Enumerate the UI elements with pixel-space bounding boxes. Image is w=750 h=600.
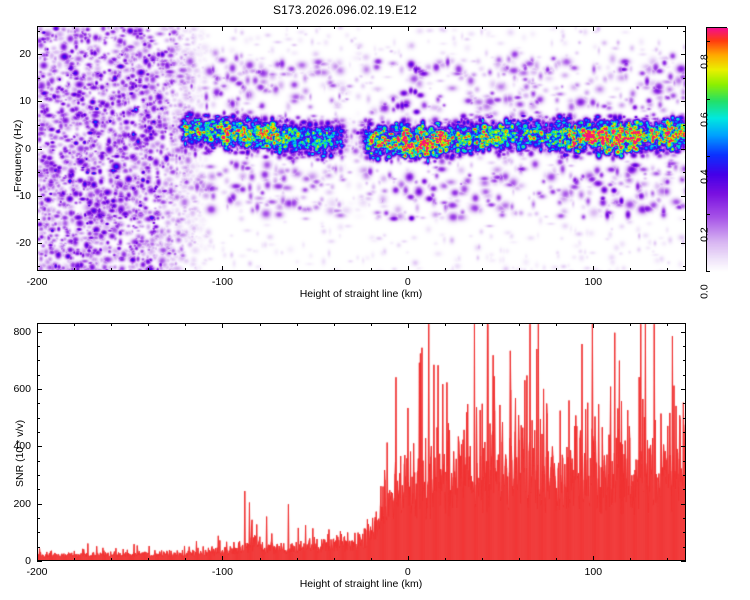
y-tick-major-right [681, 54, 686, 55]
figure-root: S173.2026.096.02.19.E12 -200-10001002010… [0, 0, 750, 600]
colorbar-tick [706, 99, 710, 100]
y-tick-minor-right [683, 547, 686, 548]
x-tick-label: -200 [26, 566, 47, 578]
y-tick-minor-right [683, 172, 686, 173]
x-tick-major [408, 266, 409, 271]
x-tick-minor [482, 558, 483, 561]
y-tick-minor-right [683, 403, 686, 404]
x-tick-minor-top [556, 26, 557, 29]
y-tick-major-right [681, 561, 686, 562]
spectrogram-yaxis-title: Frequency (Hz) [12, 120, 24, 192]
x-tick-minor-top [371, 323, 372, 326]
y-tick-label: 0 [25, 555, 31, 567]
x-tick-minor [556, 268, 557, 271]
x-tick-minor-top [371, 26, 372, 29]
y-tick-minor [37, 346, 40, 347]
x-tick-minor-top [334, 323, 335, 326]
y-tick-minor [37, 403, 40, 404]
y-tick-major-right [681, 196, 686, 197]
x-tick-major [222, 266, 223, 271]
x-tick-minor-top [482, 323, 483, 326]
x-tick-minor-top [111, 26, 112, 29]
x-tick-major-top [408, 26, 409, 31]
page-title: S173.2026.096.02.19.E12 [0, 3, 690, 17]
y-tick-minor-right [683, 78, 686, 79]
y-tick-minor-right [683, 432, 686, 433]
y-tick-minor-right [683, 475, 686, 476]
colorbar-tick-label: 0.4 [699, 169, 711, 184]
x-tick-minor [667, 268, 668, 271]
colorbar-tick-label: 0.8 [699, 55, 711, 70]
y-tick-label: 800 [13, 326, 31, 338]
y-tick-major [37, 149, 42, 150]
x-tick-label: 0 [405, 276, 411, 288]
y-tick-major [37, 504, 42, 505]
x-tick-label: -100 [212, 276, 233, 288]
x-tick-minor [148, 268, 149, 271]
x-tick-label: 0 [405, 566, 411, 578]
x-tick-minor-top [630, 26, 631, 29]
x-tick-minor-top [630, 323, 631, 326]
x-tick-minor-top [556, 323, 557, 326]
x-tick-major [593, 556, 594, 561]
x-tick-minor [445, 558, 446, 561]
x-tick-label: -100 [212, 566, 233, 578]
x-tick-major-top [222, 26, 223, 31]
x-tick-minor-top [260, 323, 261, 326]
x-tick-minor [260, 558, 261, 561]
y-tick-minor-right [683, 360, 686, 361]
y-tick-minor-right [683, 346, 686, 347]
y-tick-minor [37, 172, 40, 173]
y-tick-minor [37, 266, 40, 267]
y-tick-minor-right [683, 31, 686, 32]
x-tick-major-top [593, 323, 594, 328]
x-tick-minor [111, 268, 112, 271]
x-tick-minor-top [334, 26, 335, 29]
y-tick-major [37, 389, 42, 390]
spectrogram-image [38, 27, 686, 271]
x-tick-minor [556, 558, 557, 561]
y-tick-major [37, 561, 42, 562]
x-tick-label: 100 [585, 566, 603, 578]
spectrogram-plot-area [37, 26, 686, 271]
y-tick-minor [37, 432, 40, 433]
x-tick-minor [74, 268, 75, 271]
y-tick-major-right [681, 243, 686, 244]
colorbar-tick [706, 214, 710, 215]
colorbar-tick-label: 0.0 [699, 284, 711, 299]
x-tick-minor-top [148, 323, 149, 326]
snr-yaxis-title: SNR (10 * v/v) [14, 420, 26, 487]
colorbar-tick [706, 271, 710, 272]
x-tick-minor [630, 268, 631, 271]
y-tick-minor [37, 489, 40, 490]
x-tick-minor-top [148, 26, 149, 29]
y-tick-minor [37, 547, 40, 548]
x-tick-minor-top [667, 26, 668, 29]
y-tick-label: 0 [25, 143, 31, 155]
x-tick-minor-top [445, 26, 446, 29]
snr-trace [38, 324, 686, 561]
x-tick-minor-top [297, 323, 298, 326]
x-tick-minor [185, 558, 186, 561]
x-tick-minor [371, 268, 372, 271]
y-tick-minor [37, 31, 40, 32]
y-tick-minor-right [683, 418, 686, 419]
x-tick-minor-top [667, 323, 668, 326]
y-tick-label: -20 [16, 237, 31, 249]
y-tick-minor [37, 219, 40, 220]
y-tick-minor [37, 78, 40, 79]
x-tick-minor-top [445, 323, 446, 326]
x-tick-label: -200 [26, 276, 47, 288]
y-tick-minor-right [683, 461, 686, 462]
colorbar-tick [706, 156, 710, 157]
y-tick-label: 600 [13, 383, 31, 395]
x-tick-minor [334, 268, 335, 271]
y-tick-major-right [681, 332, 686, 333]
colorbar-tick-label: 0.2 [699, 227, 711, 242]
x-tick-major-top [593, 26, 594, 31]
x-tick-minor [482, 268, 483, 271]
y-tick-minor-right [683, 532, 686, 533]
y-tick-minor [37, 360, 40, 361]
y-tick-major [37, 332, 42, 333]
x-tick-major [222, 556, 223, 561]
colorbar-tick [706, 41, 710, 42]
x-tick-minor [630, 558, 631, 561]
y-tick-major-right [681, 101, 686, 102]
spectrogram-xaxis-title: Height of straight line (km) [300, 288, 423, 300]
x-tick-minor [519, 558, 520, 561]
colorbar-tick-label: 0.6 [699, 112, 711, 127]
y-tick-minor [37, 475, 40, 476]
y-tick-major-right [681, 149, 686, 150]
x-tick-minor-top [519, 26, 520, 29]
y-tick-label: 200 [13, 498, 31, 510]
x-tick-minor-top [260, 26, 261, 29]
x-tick-minor [297, 268, 298, 271]
y-tick-major [37, 101, 42, 102]
x-tick-minor [445, 268, 446, 271]
y-tick-minor [37, 532, 40, 533]
x-tick-minor-top [111, 323, 112, 326]
x-tick-minor [74, 558, 75, 561]
x-tick-minor [185, 268, 186, 271]
x-tick-minor-top [519, 323, 520, 326]
y-tick-minor [37, 518, 40, 519]
x-tick-major [408, 556, 409, 561]
x-tick-minor-top [185, 323, 186, 326]
y-tick-major-right [681, 446, 686, 447]
y-tick-major [37, 446, 42, 447]
x-tick-minor-top [74, 323, 75, 326]
x-tick-label: 100 [585, 276, 603, 288]
y-tick-minor-right [683, 375, 686, 376]
x-tick-minor [667, 558, 668, 561]
y-tick-major-right [681, 504, 686, 505]
y-tick-major [37, 196, 42, 197]
x-tick-minor [334, 558, 335, 561]
x-tick-major-top [37, 323, 38, 328]
x-tick-minor [260, 268, 261, 271]
x-tick-minor [297, 558, 298, 561]
x-tick-minor [148, 558, 149, 561]
y-tick-minor-right [683, 266, 686, 267]
y-tick-label: 20 [19, 48, 31, 60]
snr-plot-area [37, 323, 686, 561]
y-tick-minor-right [683, 219, 686, 220]
y-tick-major [37, 243, 42, 244]
snr-xaxis-title: Height of straight line (km) [300, 578, 423, 590]
y-tick-label: 10 [19, 95, 31, 107]
x-tick-major-top [222, 323, 223, 328]
y-tick-minor [37, 418, 40, 419]
y-tick-minor-right [683, 518, 686, 519]
x-tick-minor-top [74, 26, 75, 29]
x-tick-major [593, 266, 594, 271]
y-tick-minor [37, 375, 40, 376]
x-tick-minor [371, 558, 372, 561]
x-tick-minor [111, 558, 112, 561]
x-tick-minor-top [297, 26, 298, 29]
y-tick-minor [37, 125, 40, 126]
y-tick-minor-right [683, 125, 686, 126]
x-tick-minor [519, 268, 520, 271]
x-tick-minor-top [185, 26, 186, 29]
y-tick-major-right [681, 389, 686, 390]
x-tick-minor-top [482, 26, 483, 29]
y-tick-minor-right [683, 489, 686, 490]
y-tick-major [37, 54, 42, 55]
y-tick-minor [37, 461, 40, 462]
x-tick-major-top [408, 323, 409, 328]
